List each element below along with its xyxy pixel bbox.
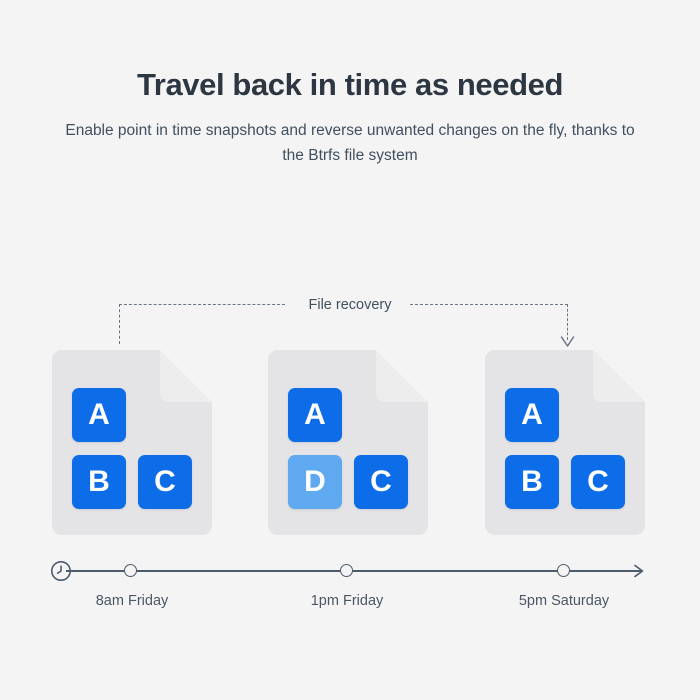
timeline-marker[interactable] (124, 564, 137, 577)
file-tile[interactable]: A (288, 388, 342, 442)
timeline-marker[interactable] (340, 564, 353, 577)
file-tile[interactable]: A (505, 388, 559, 442)
file-tile[interactable]: C (571, 455, 625, 509)
arrow-right-icon (634, 564, 648, 578)
snapshot-cards: A B C A D C A B C (0, 350, 700, 540)
page-header: Travel back in time as needed Enable poi… (0, 66, 700, 168)
file-tile[interactable]: C (138, 455, 192, 509)
page-subtitle: Enable point in time snapshots and rever… (55, 118, 645, 168)
timeline: 8am Friday 1pm Friday 5pm Saturday (0, 550, 700, 630)
file-tile[interactable]: B (72, 455, 126, 509)
page-title: Travel back in time as needed (0, 66, 700, 104)
timeline-marker[interactable] (557, 564, 570, 577)
snapshot-card-2[interactable]: A D C (268, 350, 428, 535)
file-tile-changed[interactable]: D (288, 455, 342, 509)
arrow-down-icon (560, 336, 575, 348)
page-fold-corner (593, 350, 645, 402)
timeline-label: 8am Friday (32, 591, 232, 611)
file-tile[interactable]: C (354, 455, 408, 509)
file-recovery-annotation: File recovery (0, 296, 700, 356)
snapshot-card-3[interactable]: A B C (485, 350, 645, 535)
file-tile[interactable]: A (72, 388, 126, 442)
file-tile[interactable]: B (505, 455, 559, 509)
file-recovery-label: File recovery (0, 296, 700, 314)
snapshot-card-1[interactable]: A B C (52, 350, 212, 535)
page-fold-corner (376, 350, 428, 402)
timeline-label: 5pm Saturday (464, 591, 664, 611)
page-fold-corner (160, 350, 212, 402)
timeline-axis (66, 570, 641, 572)
timeline-label: 1pm Friday (247, 591, 447, 611)
